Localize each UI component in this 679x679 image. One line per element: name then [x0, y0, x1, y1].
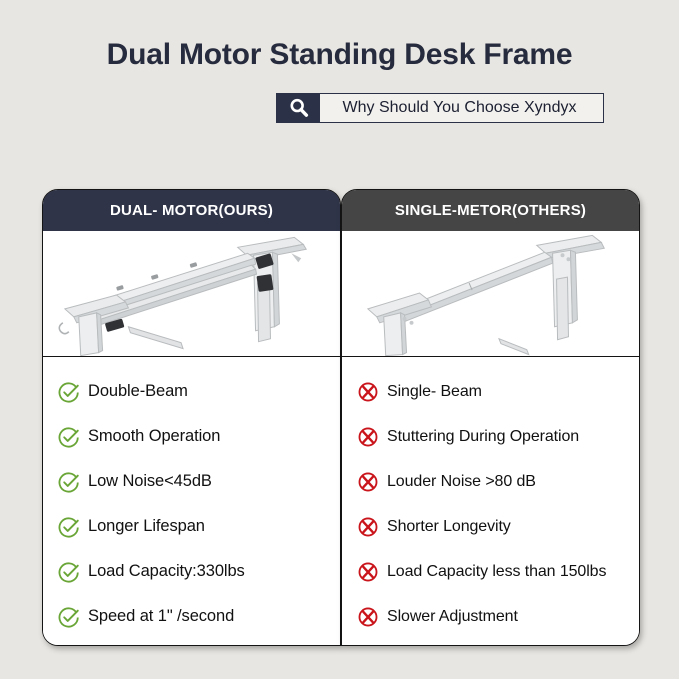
- feature-label: Load Capacity less than 150lbs: [387, 563, 606, 581]
- search-label: Why Should You Choose Xyndyx: [320, 94, 603, 122]
- check-circle-icon: [57, 470, 81, 494]
- feature-row: Speed at 1" /second: [43, 594, 340, 639]
- feature-label: Louder Noise >80 dB: [387, 473, 536, 491]
- feature-label: Shorter Longevity: [387, 518, 511, 536]
- column-header-single-motor: SINGLE-METOR(OTHERS): [342, 190, 639, 231]
- cross-circle-icon: [356, 515, 380, 539]
- feature-label: Load Capacity:330lbs: [88, 562, 245, 581]
- magnifier-icon: [277, 94, 320, 122]
- check-circle-icon: [57, 425, 81, 449]
- dual-motor-desk-frame-image: [43, 231, 340, 357]
- feature-row: Shorter Longevity: [342, 504, 639, 549]
- feature-label: Low Noise<45dB: [88, 472, 212, 491]
- feature-row: Slower Adjustment: [342, 594, 639, 639]
- feature-row: Stuttering During Operation: [342, 414, 639, 459]
- cross-circle-icon: [356, 470, 380, 494]
- search-bar[interactable]: Why Should You Choose Xyndyx: [276, 93, 604, 123]
- feature-row: Louder Noise >80 dB: [342, 459, 639, 504]
- check-circle-icon: [57, 380, 81, 404]
- feature-list-dual-motor: Double-Beam Smooth Operation: [43, 357, 340, 645]
- page-title: Dual Motor Standing Desk Frame: [0, 38, 679, 71]
- feature-row: Load Capacity less than 150lbs: [342, 549, 639, 594]
- feature-label: Longer Lifespan: [88, 517, 205, 536]
- feature-label: Stuttering During Operation: [387, 428, 579, 446]
- feature-row: Low Noise<45dB: [43, 459, 340, 504]
- feature-row: Load Capacity:330lbs: [43, 549, 340, 594]
- cross-circle-icon: [356, 425, 380, 449]
- feature-label: Single- Beam: [387, 383, 482, 401]
- check-circle-icon: [57, 605, 81, 629]
- feature-label: Speed at 1" /second: [88, 607, 234, 626]
- comparison-column-single-motor: SINGLE-METOR(OTHERS): [341, 189, 640, 634]
- feature-list-single-motor: Single- Beam Stuttering During Operation: [342, 357, 639, 645]
- comparison-table: DUAL- MOTOR(OURS): [42, 189, 640, 634]
- feature-label: Slower Adjustment: [387, 608, 518, 626]
- single-motor-desk-frame-image: [342, 231, 639, 357]
- cross-circle-icon: [356, 380, 380, 404]
- cross-circle-icon: [356, 605, 380, 629]
- feature-row: Double-Beam: [43, 369, 340, 414]
- feature-row: Single- Beam: [342, 369, 639, 414]
- cross-circle-icon: [356, 560, 380, 584]
- feature-label: Double-Beam: [88, 382, 188, 401]
- feature-label: Smooth Operation: [88, 427, 220, 446]
- check-circle-icon: [57, 560, 81, 584]
- feature-row: Smooth Operation: [43, 414, 340, 459]
- check-circle-icon: [57, 515, 81, 539]
- comparison-column-dual-motor: DUAL- MOTOR(OURS): [42, 189, 341, 634]
- column-header-dual-motor: DUAL- MOTOR(OURS): [43, 190, 340, 231]
- feature-row: Longer Lifespan: [43, 504, 340, 549]
